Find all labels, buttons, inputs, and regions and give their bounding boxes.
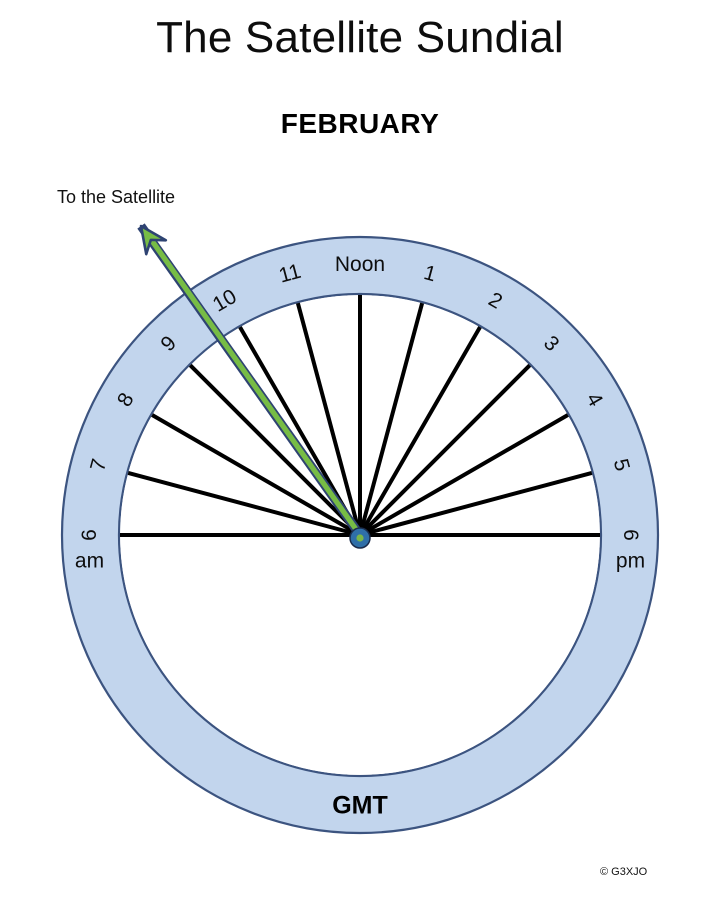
gmt-label: GMT — [332, 792, 388, 820]
hour-label-12: Noon — [335, 253, 385, 276]
dial-hub — [350, 528, 370, 548]
hour-label-18: 6 — [619, 529, 642, 541]
hour-label-6: 6 — [78, 529, 101, 541]
dial-hub-inner — [356, 534, 363, 541]
sundial-diagram: 67891011Noon123456 ampm GMT — [0, 0, 720, 900]
sundial-page: The Satellite Sundial FEBRUARY To the Sa… — [0, 0, 720, 900]
pm-label: pm — [616, 550, 645, 573]
copyright-notice: © G3XJO — [600, 866, 647, 878]
am-label: am — [75, 550, 104, 573]
timezone-label: GMT — [332, 792, 388, 820]
